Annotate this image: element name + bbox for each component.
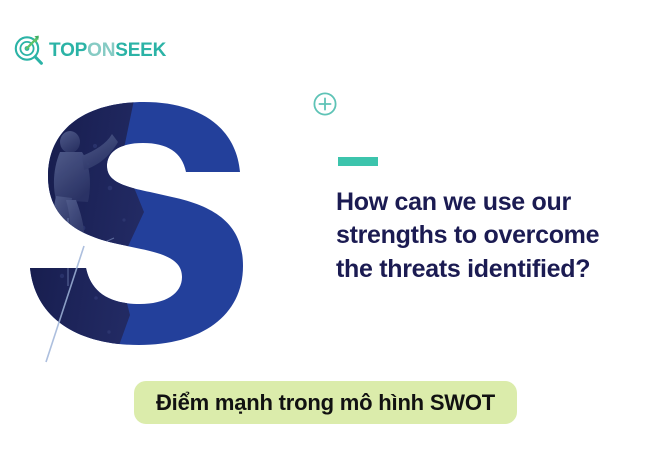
brand-word-top: TOP — [49, 41, 87, 60]
caption-text: Điểm mạnh trong mô hình SWOT — [156, 390, 495, 416]
target-magnifier-icon — [12, 33, 46, 67]
brand-word-seek: SEEK — [115, 41, 166, 60]
accent-rule — [338, 157, 378, 166]
caption-pill: Điểm mạnh trong mô hình SWOT — [134, 381, 517, 424]
brand-wordmark: TOPONSEEK — [49, 41, 166, 60]
headline-line-3: the threats identified? — [336, 253, 626, 286]
headline-question: How can we use our strengths to overcome… — [336, 186, 626, 286]
brand-logo[interactable]: TOPONSEEK — [12, 32, 166, 68]
headline-line-1: How can we use our — [336, 186, 626, 219]
plus-circle-icon[interactable] — [312, 91, 338, 117]
headline-line-2: strengths to overcome — [336, 219, 626, 252]
brand-word-on: ON — [87, 41, 115, 60]
slide-canvas: TOPONSEEK — [0, 0, 650, 450]
letter-s-svg — [26, 100, 246, 365]
letter-s-graphic — [26, 100, 246, 365]
